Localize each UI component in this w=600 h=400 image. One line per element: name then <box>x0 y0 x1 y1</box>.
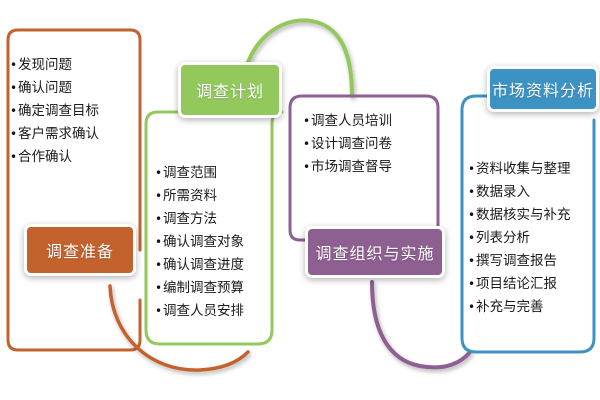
list-item: 数据核实与补充 <box>468 204 571 227</box>
list-item: 市场调查督导 <box>303 156 392 179</box>
stage-label-analysis: 市场资料分析 <box>487 66 599 112</box>
list-item: 所需资料 <box>155 185 244 208</box>
stage-label-prepare: 调查准备 <box>24 224 136 276</box>
list-item: 确认问题 <box>10 77 99 100</box>
organize-to-analysis-arc <box>372 282 470 367</box>
list-item: 调查范围 <box>155 162 244 185</box>
stage-label-text: 调查组织与实施 <box>315 240 434 264</box>
list-item: 发现问题 <box>10 54 99 77</box>
list-item: 调查方法 <box>155 208 244 231</box>
stage-label-plan: 调查计划 <box>178 62 282 118</box>
list-item: 补充与完善 <box>468 296 571 319</box>
list-item: 调查人员安排 <box>155 300 244 323</box>
list-item: 列表分析 <box>468 227 571 250</box>
list-item: 确认调查对象 <box>155 231 244 254</box>
process-flow-diagram: 发现问题 确认问题 确定调查目标 客户需求确认 合作确认 调查准备 调查范围 所… <box>0 0 600 400</box>
list-item: 确定调查目标 <box>10 100 99 123</box>
list-item: 项目结论汇报 <box>468 273 571 296</box>
stage-label-text: 市场资料分析 <box>492 77 594 101</box>
list-item: 客户需求确认 <box>10 123 99 146</box>
stage-prepare-item-list: 发现问题 确认问题 确定调查目标 客户需求确认 合作确认 <box>10 54 99 169</box>
stage-label-text: 调查计划 <box>196 78 264 102</box>
list-item: 确认调查进度 <box>155 254 244 277</box>
list-item: 数据录入 <box>468 181 571 204</box>
list-item: 撰写调查报告 <box>468 250 571 273</box>
stage-organize-item-list: 调查人员培训 设计调查问卷 市场调查督导 <box>303 110 392 179</box>
list-item: 设计调查问卷 <box>303 133 392 156</box>
list-item: 合作确认 <box>10 146 99 169</box>
list-item: 编制调查预算 <box>155 277 244 300</box>
stage-label-text: 调查准备 <box>46 238 114 262</box>
stage-label-organize: 调查组织与实施 <box>305 226 445 278</box>
stage-plan-item-list: 调查范围 所需资料 调查方法 确认调查对象 确认调查进度 编制调查预算 调查人员… <box>155 162 244 323</box>
list-item: 调查人员培训 <box>303 110 392 133</box>
list-item: 资料收集与整理 <box>468 158 571 181</box>
stage-analysis-item-list: 资料收集与整理 数据录入 数据核实与补充 列表分析 撰写调查报告 项目结论汇报 … <box>468 158 571 319</box>
